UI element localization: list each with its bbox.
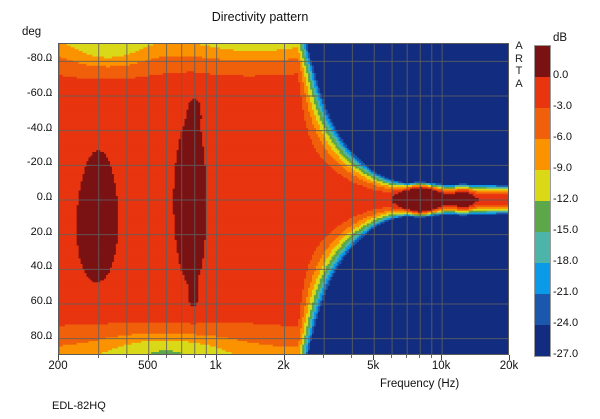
colorbar-band xyxy=(535,263,550,294)
page-title: Directivity pattern xyxy=(0,10,520,24)
x-axis-tick-mark xyxy=(126,355,127,358)
y-axis-tick-mark xyxy=(46,164,52,165)
y-axis-tick-label: -40.0 xyxy=(6,122,52,134)
y-axis-tick-mark xyxy=(46,303,52,304)
y-axis-tick-mark xyxy=(46,268,52,269)
x-axis-tick-mark xyxy=(419,355,420,358)
y-axis-tick-label: 20.0 xyxy=(6,226,52,238)
colorbar-band xyxy=(535,139,550,170)
x-axis-tick-mark xyxy=(509,355,510,360)
x-axis-tick-mark xyxy=(373,355,374,360)
heatmap-plot-area xyxy=(58,43,509,355)
y-axis-tick-mark xyxy=(46,199,52,200)
x-axis-tick-mark xyxy=(205,355,206,358)
y-axis-ticks: -80.0-60.0-40.0-20.00.020.040.060.080.0 xyxy=(0,43,52,355)
x-axis-tick-mark xyxy=(431,355,432,358)
y-axis-tick-label: 80.0 xyxy=(6,330,52,342)
x-axis-tick-label: 5k xyxy=(351,360,395,372)
x-axis-ticks: 2005001k2k5k10k20k xyxy=(58,360,509,380)
directivity-chart-page: Directivity pattern deg dB ARTA -80.0-60… xyxy=(0,0,600,419)
watermark-letter: T xyxy=(512,65,526,78)
y-axis-tick-mark xyxy=(46,95,52,96)
y-axis-tick-label: -20.0 xyxy=(6,156,52,168)
x-axis-tick-mark xyxy=(216,355,217,360)
chart-caption: EDL-82HQ xyxy=(52,400,106,412)
colorbar-tick-label: -21.0 xyxy=(553,286,578,298)
x-axis-tick-label: 2k xyxy=(262,360,306,372)
colorbar-tick-label: 0.0 xyxy=(553,69,568,81)
colorbar-tick-label: -18.0 xyxy=(553,255,578,267)
colorbar-unit-label: dB xyxy=(553,32,567,44)
colorbar-band xyxy=(535,294,550,325)
colorbar-band xyxy=(535,201,550,232)
colorbar-band xyxy=(535,325,550,356)
y-axis-tick-label: 0.0 xyxy=(6,191,52,203)
watermark-letter: A xyxy=(512,78,526,91)
x-axis-tick-label: 500 xyxy=(126,360,170,372)
x-axis-tick-mark xyxy=(323,355,324,358)
colorbar-band xyxy=(535,108,550,139)
colorbar-tick-label: -9.0 xyxy=(553,162,572,174)
colorbar-tick-label: -12.0 xyxy=(553,193,578,205)
colorbar-band xyxy=(535,170,550,201)
x-axis-tick-mark xyxy=(98,355,99,358)
colorbar-scale xyxy=(534,45,551,357)
y-axis-unit-label: deg xyxy=(22,26,41,38)
x-axis-tick-mark xyxy=(406,355,407,358)
x-axis-tick-mark xyxy=(148,355,149,360)
colorbar-band xyxy=(535,232,550,263)
y-axis-tick-mark xyxy=(46,60,52,61)
colorbar-band xyxy=(535,46,550,77)
x-axis-tick-label: 20k xyxy=(487,360,531,372)
x-axis-tick-mark xyxy=(181,355,182,358)
y-axis-tick-label: 40.0 xyxy=(6,260,52,272)
colorbar-tick-label: -6.0 xyxy=(553,131,572,143)
x-axis-title: Frequency (Hz) xyxy=(380,378,459,390)
directivity-heatmap xyxy=(59,44,509,355)
x-axis-tick-label: 10k xyxy=(419,360,463,372)
y-axis-tick-label: -60.0 xyxy=(6,87,52,99)
y-axis-tick-mark xyxy=(46,234,52,235)
y-axis-tick-mark xyxy=(46,338,52,339)
colorbar-labels: 0.0-3.0-6.0-9.0-12.0-15.0-18.0-21.0-24.0… xyxy=(553,45,597,357)
x-axis-tick-mark xyxy=(351,355,352,358)
arta-watermark: ARTA xyxy=(512,40,526,90)
colorbar-tick-label: -15.0 xyxy=(553,224,578,236)
x-axis-tick-mark xyxy=(284,355,285,360)
x-axis-tick-label: 1k xyxy=(194,360,238,372)
watermark-letter: A xyxy=(512,40,526,53)
y-axis-tick-label: 60.0 xyxy=(6,295,52,307)
x-axis-tick-label: 200 xyxy=(36,360,80,372)
colorbar-tick-label: -24.0 xyxy=(553,317,578,329)
x-axis-tick-mark xyxy=(58,355,59,360)
x-axis-tick-mark xyxy=(441,355,442,360)
colorbar-tick-label: -3.0 xyxy=(553,100,572,112)
colorbar-band xyxy=(535,77,550,108)
x-axis-tick-mark xyxy=(391,355,392,358)
colorbar-tick-label: -27.0 xyxy=(553,348,578,360)
y-axis-tick-label: -80.0 xyxy=(6,52,52,64)
y-axis-tick-mark xyxy=(46,130,52,131)
x-axis-tick-mark xyxy=(194,355,195,358)
x-axis-tick-mark xyxy=(166,355,167,358)
watermark-letter: R xyxy=(512,53,526,66)
